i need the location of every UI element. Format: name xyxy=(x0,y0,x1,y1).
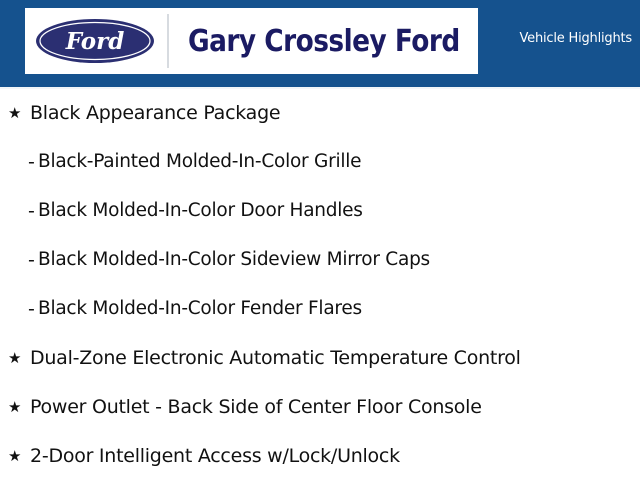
ford-oval-logo[interactable]: Ford xyxy=(25,17,165,65)
svg-text:Ford: Ford xyxy=(65,28,125,55)
feature-item: ★2-Door Intelligent Access w/Lock/Unlock xyxy=(0,432,640,481)
feature-item: ★Dual-Zone Electronic Automatic Temperat… xyxy=(0,334,640,383)
feature-label: 2-Door Intelligent Access w/Lock/Unlock xyxy=(30,446,400,467)
feature-item: ★Power Outlet - Back Side of Center Floo… xyxy=(0,383,640,432)
dealer-logo-panel[interactable]: Ford Gary Crossley Ford xyxy=(25,8,478,74)
feature-label: Black Molded-In-Color Door Handles xyxy=(38,201,363,221)
star-bullet-icon: ★ xyxy=(8,449,30,464)
dash-bullet-icon: - xyxy=(28,153,38,172)
dash-bullet-icon: - xyxy=(28,251,38,270)
feature-label: Power Outlet - Back Side of Center Floor… xyxy=(30,397,482,418)
feature-item: -Black Molded-In-Color Fender Flares xyxy=(0,285,640,334)
star-bullet-icon: ★ xyxy=(8,400,30,415)
feature-item: ★Black Appearance Package xyxy=(0,89,640,138)
logo-divider xyxy=(167,14,169,68)
feature-label: Dual-Zone Electronic Automatic Temperatu… xyxy=(30,348,521,369)
dash-bullet-icon: - xyxy=(28,202,38,221)
star-bullet-icon: ★ xyxy=(8,106,30,121)
dealer-name: Gary Crossley Ford xyxy=(188,24,467,59)
feature-label: Black Molded-In-Color Sideview Mirror Ca… xyxy=(38,250,430,270)
feature-label: Black Molded-In-Color Fender Flares xyxy=(38,299,362,319)
vehicle-highlights-list: ★Black Appearance Package-Black-Painted … xyxy=(0,89,640,481)
feature-item: -Black-Painted Molded-In-Color Grille xyxy=(0,138,640,187)
dash-bullet-icon: - xyxy=(28,300,38,319)
vehicle-highlights-label: Vehicle Highlights xyxy=(520,31,633,46)
feature-item: -Black Molded-In-Color Door Handles xyxy=(0,187,640,236)
page-header: Ford Gary Crossley Ford Vehicle Highligh… xyxy=(0,0,640,84)
feature-item: -Black Molded-In-Color Sideview Mirror C… xyxy=(0,236,640,285)
feature-label: Black Appearance Package xyxy=(30,103,280,124)
feature-label: Black-Painted Molded-In-Color Grille xyxy=(38,152,361,172)
star-bullet-icon: ★ xyxy=(8,351,30,366)
